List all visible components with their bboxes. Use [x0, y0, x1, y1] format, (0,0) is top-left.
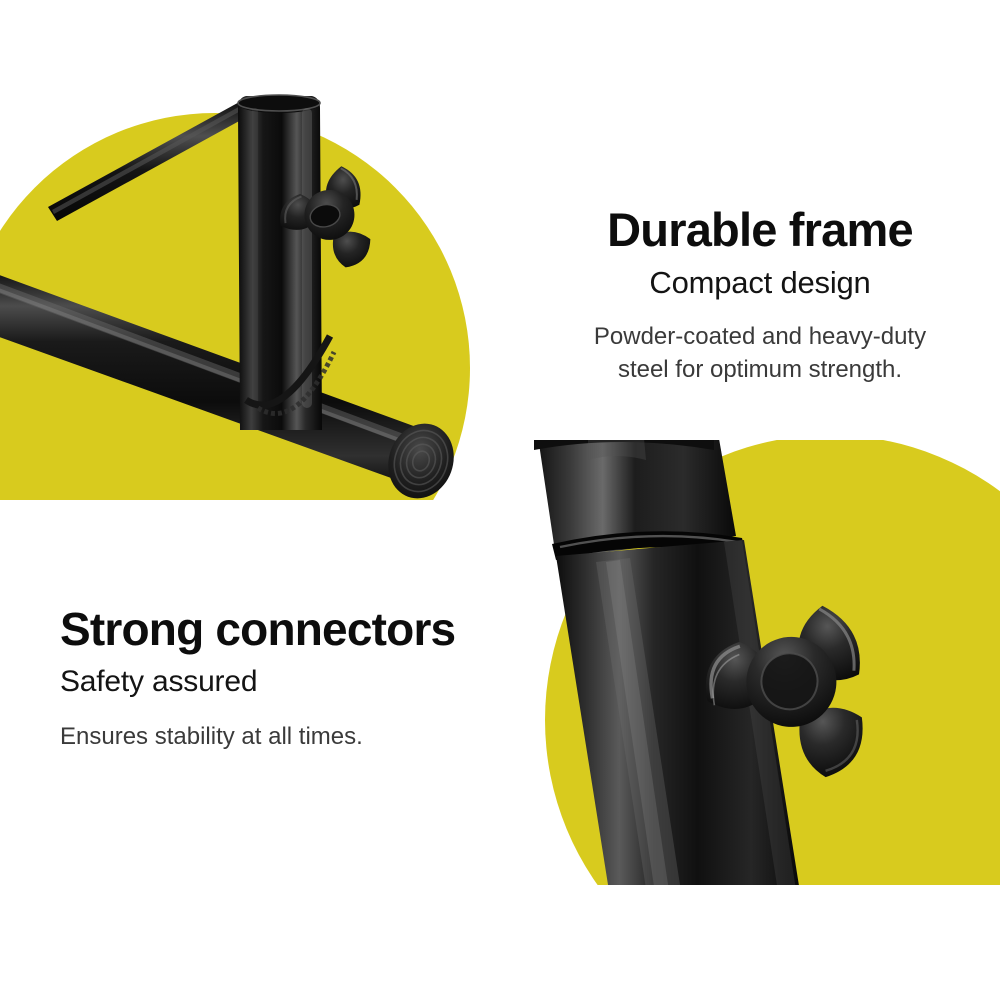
strong-connectors-body-line-1: Ensures stability at all times. [60, 720, 520, 753]
durable-frame-body: Powder-coated and heavy-duty steel for o… [540, 320, 980, 386]
frame-joint-photo-panel [0, 0, 500, 500]
durable-frame-body-line-1: Powder-coated and heavy-duty [540, 320, 980, 353]
product-feature-graphic: Durable frame Compact design Powder-coat… [0, 0, 1000, 1000]
strong-connectors-body: Ensures stability at all times. [60, 720, 520, 753]
durable-frame-heading: Durable frame [540, 205, 980, 255]
connector-knob-photo [500, 440, 1000, 900]
vertical-tube [238, 95, 322, 430]
connector-knob-photo-panel [500, 440, 1000, 900]
strong-connectors-subheading: Safety assured [60, 662, 520, 703]
durable-frame-text-block: Durable frame Compact design Powder-coat… [540, 205, 980, 386]
strong-connectors-heading: Strong connectors [60, 605, 520, 654]
durable-frame-subheading: Compact design [540, 262, 980, 304]
strong-connectors-text-block: Strong connectors Safety assured Ensures… [60, 605, 520, 753]
frame-joint-photo [0, 0, 500, 500]
durable-frame-body-line-2: steel for optimum strength. [540, 353, 980, 386]
